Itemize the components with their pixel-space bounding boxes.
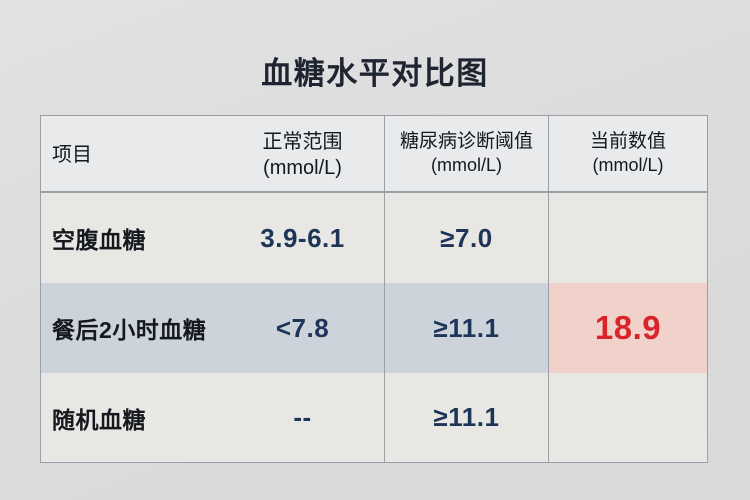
table-header-row: 项目 正常范围 (mmol/L) 糖尿病诊断阈值 (mmol/L) 当前数值 (… [41,116,707,193]
header-label-item: 项目 [52,138,92,167]
cell-item: 随机血糖 -- [41,373,384,462]
cell-item: 餐后2小时血糖 <7.8 [41,283,384,373]
row-threshold-value: ≥11.1 [385,313,548,344]
blood-glucose-comparison-table: 项目 正常范围 (mmol/L) 糖尿病诊断阈值 (mmol/L) 当前数值 (… [40,115,708,463]
page-title: 血糖水平对比图 [0,58,750,89]
cell-threshold: ≥11.1 [384,283,548,373]
header-current-value-unit: (mmol/L) [549,154,707,177]
row-item-label: 空腹血糖 [41,221,146,255]
header-label-normal-range: 正常范围 (mmol/L) [221,129,384,182]
row-threshold-value: ≥11.1 [385,402,548,433]
cell-current-value [548,373,707,462]
header-current-value-text: 当前数值 [549,130,707,154]
row-normal-range-value: -- [221,402,384,433]
cell-item: 空腹血糖 3.9-6.1 [41,193,384,283]
table-row: 随机血糖 -- ≥11.1 [41,373,707,462]
row-item-label: 随机血糖 [41,401,146,435]
cell-current-value-alert: 18.9 [548,283,707,373]
header-normal-range-unit: (mmol/L) [221,155,384,181]
header-cell-threshold: 糖尿病诊断阈值 (mmol/L) [384,116,548,191]
row-normal-range-value: <7.8 [221,313,384,344]
header-label-threshold: 糖尿病诊断阈值 (mmol/L) [385,130,548,177]
slide-canvas: 血糖水平对比图 项目 正常范围 (mmol/L) 糖尿病诊断阈值 (mmol/L… [0,0,750,500]
header-threshold-unit: (mmol/L) [385,154,548,177]
row-item-label: 餐后2小时血糖 [41,311,206,345]
table-row: 餐后2小时血糖 <7.8 ≥11.1 18.9 [41,283,707,373]
row-normal-range-value: 3.9-6.1 [221,223,384,254]
table-row: 空腹血糖 3.9-6.1 ≥7.0 [41,193,707,283]
row-current-value: 18.9 [549,309,707,347]
header-cell-item-and-range: 项目 正常范围 (mmol/L) [41,116,384,191]
row-threshold-value: ≥7.0 [385,223,548,254]
header-cell-current-value: 当前数值 (mmol/L) [548,116,707,191]
cell-current-value [548,193,707,283]
header-threshold-text: 糖尿病诊断阈值 [385,130,548,154]
header-label-current-value: 当前数值 (mmol/L) [549,130,707,177]
cell-threshold: ≥11.1 [384,373,548,462]
header-normal-range-text: 正常范围 [221,129,384,155]
cell-threshold: ≥7.0 [384,193,548,283]
